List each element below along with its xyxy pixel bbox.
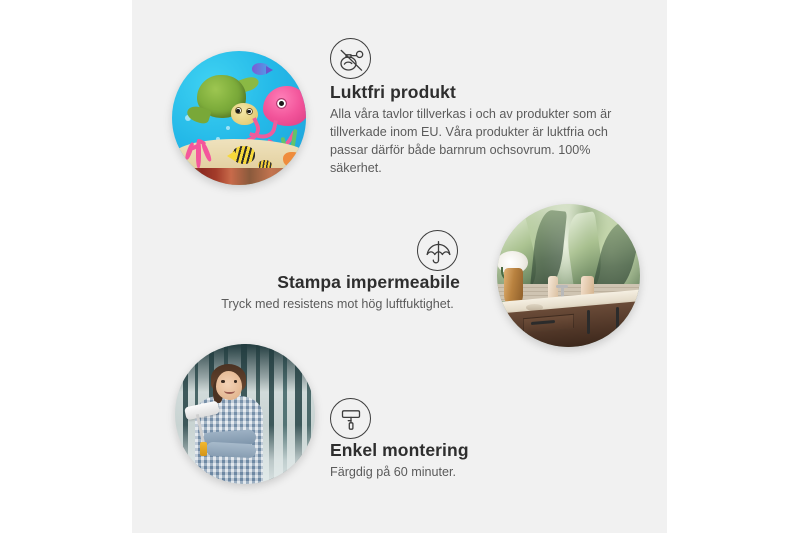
cabinet-handle [587,310,590,334]
feature-title: Enkel montering [330,440,469,461]
umbrella-icon [417,230,458,271]
paint-roller-icon [330,398,371,439]
mural-floor-strip [172,168,306,185]
cabinet-handle [616,307,619,331]
photo-bathroom-leaf-wallpaper [497,204,640,347]
photo-sea-mural [172,51,306,185]
feature-body: Alla våra tavlor tillverkas i och av pro… [330,106,626,178]
photo-forest-painter [175,344,315,484]
paint-roller-handle [200,442,207,456]
yellow-fish-icon [232,146,255,163]
coral-icon [181,127,216,167]
no-fragrance-icon [330,38,371,79]
feature-body: Tryck med resistens mot hög luftfuktighe… [215,296,460,314]
feature-body: Färgdig på 60 minuter. [330,464,565,482]
purple-fish-icon [252,63,269,75]
person-eye [221,380,225,383]
starfish-icon [283,152,303,168]
person-smile [224,387,235,393]
bubble-icon [226,126,230,130]
product-feature-panel: Luktfri produkt Alla våra tavlor tillver… [0,0,800,533]
feature-title: Luktfri produkt [330,82,456,103]
person-face [216,371,243,400]
turtle-eye [246,108,253,115]
feature-title: Stampa impermeabile [215,272,460,293]
